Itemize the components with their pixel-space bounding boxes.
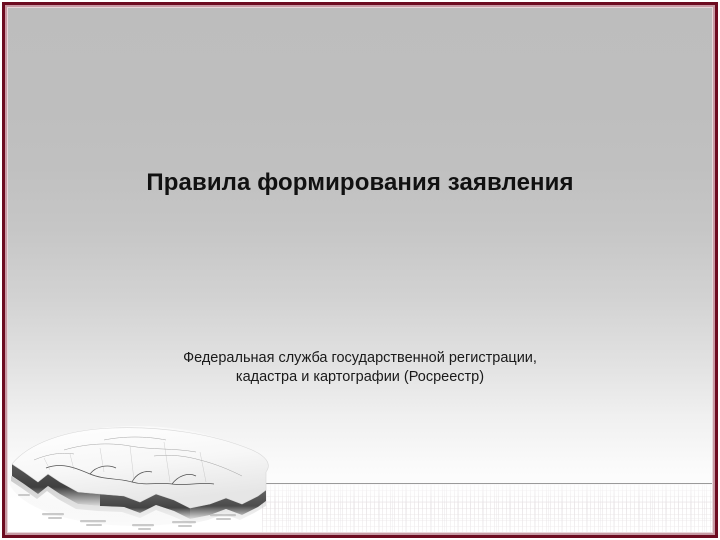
slide-subtitle-line-2: кадастра и картографии (Росреестр): [8, 368, 712, 387]
slide-subtitle: Федеральная служба государственной регис…: [8, 349, 712, 387]
slide-subtitle-line-1: Федеральная служба государственной регис…: [8, 349, 712, 368]
slide-canvas: Правила формирования заявления Федеральн…: [8, 8, 712, 532]
presentation-slide: Правила формирования заявления Федеральн…: [0, 0, 720, 540]
russia-relief-map-icon: [8, 420, 294, 532]
plaid-texture: [262, 484, 712, 532]
slide-title: Правила формирования заявления: [8, 168, 712, 198]
